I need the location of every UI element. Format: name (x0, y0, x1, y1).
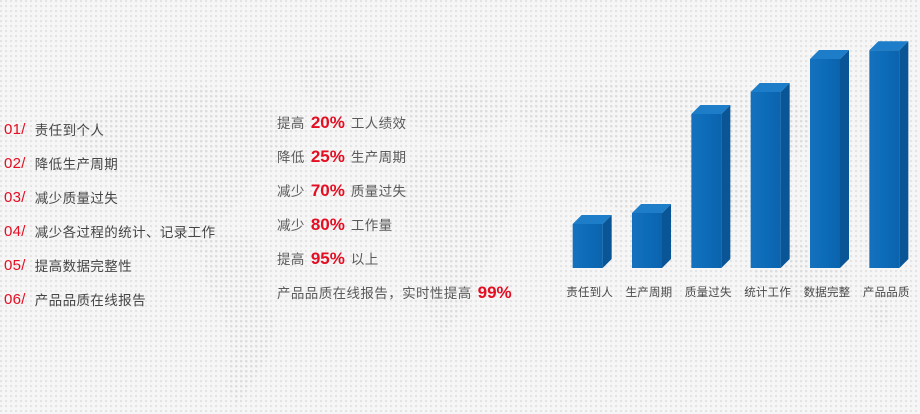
list-item-index: 01/ (4, 121, 26, 138)
metric-percent: 99% (478, 283, 512, 303)
list-item-label: 减少各过程的统计、记录工作 (35, 221, 216, 241)
chart-bar (573, 215, 612, 268)
metric-suffix: 以上 (351, 248, 379, 268)
list-item-index: 04/ (4, 223, 26, 240)
list-item: 03/ 减少质量过失 (4, 180, 254, 214)
bar-side-face (721, 105, 730, 268)
metric-percent: 80% (311, 215, 345, 235)
bar-side-face (840, 50, 849, 268)
metric-item: 降低 25% 生产周期 (277, 146, 547, 180)
metric-item: 提高 95% 以上 (277, 248, 547, 282)
metric-item: 产品品质在线报告，实时性提高 99% (277, 282, 547, 316)
metric-percent: 25% (311, 147, 345, 167)
chart-bar (810, 50, 849, 268)
axis-label: 生产周期 (619, 284, 678, 300)
bar-side-face (899, 41, 908, 268)
metric-suffix: 工作量 (351, 214, 393, 234)
metric-suffix: 生产周期 (351, 146, 407, 166)
metric-prefix: 提高 (277, 112, 305, 132)
axis-label: 产品品质 (857, 284, 916, 300)
bar-side-face (603, 215, 612, 268)
benefits-list: 01/ 责任到个人 02/ 降低生产周期 03/ 减少质量过失 04/ 减少各过… (4, 112, 254, 316)
list-item: 04/ 减少各过程的统计、记录工作 (4, 214, 254, 248)
metric-percent: 70% (311, 181, 345, 201)
list-item: 01/ 责任到个人 (4, 112, 254, 146)
metric-percent: 95% (311, 249, 345, 269)
bar-chart (560, 18, 916, 308)
list-item-index: 02/ (4, 155, 26, 172)
bar-chart-canvas (560, 18, 916, 308)
metric-prefix: 提高 (277, 248, 305, 268)
chart-bar (751, 83, 790, 268)
metric-prefix: 产品品质在线报告，实时性提高 (277, 282, 472, 302)
list-item: 02/ 降低生产周期 (4, 146, 254, 180)
axis-label: 质量过失 (679, 284, 738, 300)
bar-front-face (573, 224, 603, 268)
axis-label: 数据完整 (797, 284, 856, 300)
metric-prefix: 降低 (277, 146, 305, 166)
metric-prefix: 减少 (277, 214, 305, 234)
metric-item: 提高 20% 工人绩效 (277, 112, 547, 146)
metric-item: 减少 70% 质量过失 (277, 180, 547, 214)
list-item-label: 责任到个人 (35, 119, 105, 139)
list-item-index: 03/ (4, 189, 26, 206)
metric-prefix: 减少 (277, 180, 305, 200)
bar-side-face (781, 83, 790, 268)
list-item: 06/ 产品品质在线报告 (4, 282, 254, 316)
metric-suffix: 工人绩效 (351, 112, 407, 132)
bar-front-face (632, 213, 662, 268)
bar-front-face (691, 114, 721, 268)
list-item-label: 降低生产周期 (35, 153, 118, 173)
metric-suffix: 质量过失 (351, 180, 407, 200)
infographic-root: 01/ 责任到个人 02/ 降低生产周期 03/ 减少质量过失 04/ 减少各过… (0, 0, 920, 414)
list-item-index: 06/ (4, 291, 26, 308)
axis-label: 统计工作 (738, 284, 797, 300)
list-item: 05/ 提高数据完整性 (4, 248, 254, 282)
metric-item: 减少 80% 工作量 (277, 214, 547, 248)
list-item-index: 05/ (4, 257, 26, 274)
chart-x-axis-labels: 责任到人 生产周期 质量过失 统计工作 数据完整 产品品质 (560, 284, 916, 300)
bar-side-face (662, 204, 671, 268)
axis-label: 责任到人 (560, 284, 619, 300)
chart-bar (869, 41, 908, 268)
metrics-list: 提高 20% 工人绩效 降低 25% 生产周期 减少 70% 质量过失 减少 8… (277, 112, 547, 316)
bar-front-face (869, 50, 899, 268)
metric-percent: 20% (311, 113, 345, 133)
list-item-label: 提高数据完整性 (35, 255, 132, 275)
bar-front-face (810, 59, 840, 268)
bar-front-face (751, 92, 781, 268)
chart-bar (632, 204, 671, 268)
list-item-label: 减少质量过失 (35, 187, 118, 207)
list-item-label: 产品品质在线报告 (35, 289, 146, 309)
chart-bar (691, 105, 730, 268)
